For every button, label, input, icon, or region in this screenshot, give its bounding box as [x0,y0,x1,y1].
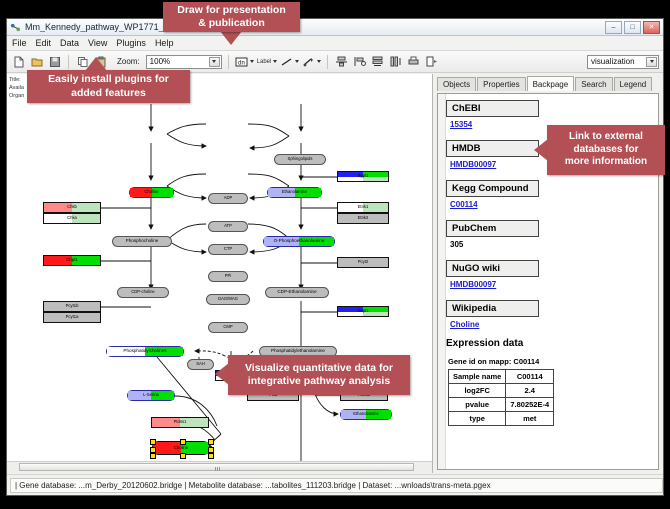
menu-plugins[interactable]: Plugins [116,38,146,48]
menu-edit[interactable]: Edit [36,38,52,48]
arrow-dropdown[interactable] [302,56,321,68]
node-label: Choline [144,190,158,194]
node-label: SAH [196,362,205,366]
toolbar-separator-3 [327,55,328,69]
pathway-canvas[interactable]: Title: Availa Organ [7,74,432,473]
node-ethanolamine-right[interactable]: Ethanolamine [340,409,392,420]
node-label: CDP-Ethanolamine [277,290,316,295]
node-choline-selected[interactable]: Choline [152,441,210,455]
node-label: Phosphatidylcholines [123,349,166,354]
kegg-link[interactable]: C00114 [450,200,656,209]
node-pcyt2[interactable]: Pcyt2 [337,257,389,268]
node-label: CDP-choline [131,290,155,294]
node-label: Sphingolipids [288,157,313,161]
kegg-header: Kegg Compound [446,180,539,197]
selection-handle[interactable] [208,453,214,459]
visualization-value: visualization [591,57,635,66]
callout-draw-text: Draw for presentation & publication [177,4,286,30]
hmdb-header: HMDB [446,140,539,157]
node-label: CTP [224,247,232,251]
statusbar-text: | Gene database: ...m_Derby_20120602.bri… [10,478,663,493]
table-cell: type [449,412,506,426]
new-icon[interactable] [11,54,26,69]
selection-handle[interactable] [208,439,214,445]
line-dropdown[interactable] [280,56,299,68]
pubchem-value: 305 [450,240,656,249]
selection-handle[interactable] [180,439,186,445]
node-cept1[interactable]: Cept1 [337,306,389,317]
node-label: Ethanolamine [282,190,308,194]
node-label: Phosphocholine [126,239,159,244]
node-phosphatidylcholines[interactable]: Phosphatidylcholines [106,346,184,357]
node-label: CMP [223,325,232,329]
callout-databases-arrow-icon [534,139,548,161]
window-buttons: – □ ✕ [605,21,660,34]
close-button[interactable]: ✕ [643,21,660,34]
backpage-scrollbar[interactable] [438,94,446,469]
selection-handle[interactable] [150,439,156,445]
distribute-icon[interactable] [388,54,403,69]
open-icon[interactable] [29,54,44,69]
expression-table: Sample nameC00114log2FC2.4pvalue7.80252E… [448,369,554,426]
tab-legend[interactable]: Legend [614,77,653,91]
toolbar-separator [68,55,69,69]
node-chka[interactable]: Chka [43,213,101,224]
node-chkb[interactable]: Chkb [43,202,101,213]
menu-file[interactable]: File [12,38,27,48]
canvas-hscroll-thumb[interactable] [19,463,414,471]
window-titlebar: Mm_Kennedy_pathway_WP1771_45176.gpml – □… [7,19,663,36]
node-label: Pcyt2 [358,260,368,264]
zoom-label: Zoom: [117,57,140,66]
node-label: ADP [224,196,233,200]
node-pcyt1b[interactable]: Pcyt1b [43,301,101,312]
table-cell: 7.80252E-4 [506,398,554,412]
node-cdp-choline[interactable]: CDP-choline [117,287,169,298]
wikipedia-header: Wikipedia [446,300,539,317]
callout-plugins-text: Easily install plugins for added feature… [48,73,169,99]
node-label: Chkb [67,205,77,209]
node-sgpl1[interactable]: Sgpl1 [337,171,389,182]
selection-handle[interactable] [150,453,156,459]
node-phosphocholine[interactable]: Phosphocholine [112,236,172,247]
expression-data-header: Expression data [446,338,656,349]
node-atp[interactable]: ATP [208,221,248,232]
node-etnk2[interactable]: Etnk2 [337,213,389,224]
node-choline-top[interactable]: Choline [129,187,174,198]
minimize-button[interactable]: – [605,21,622,34]
node-ethanolamine-top[interactable]: Ethanolamine [267,187,322,198]
toolbar-separator-2 [228,55,229,69]
zoom-combo[interactable]: 100% [146,55,222,69]
node-label: O-Phosphoethanolamine [274,239,325,244]
table-row: typemet [449,412,554,426]
node-label: Ethanolamine [353,412,379,416]
node-label: Pcyt1b [66,304,79,308]
node-label: Choline [174,446,188,450]
callout-visualize: Visualize quantitative data for integrat… [228,355,410,395]
callout-databases: Link to external databases for more info… [547,125,665,175]
align-left-icon[interactable] [352,54,367,69]
node-sphingolipids[interactable]: Sphingolipids [274,154,326,165]
node-dag-mag[interactable]: DAG/MAG [206,294,250,305]
callout-visualize-text: Visualize quantitative data for integrat… [245,362,393,388]
pathvisio-icon [10,22,21,33]
table-row: pvalue7.80252E-4 [449,398,554,412]
print-icon[interactable] [406,54,421,69]
zoom-value: 100% [150,57,170,66]
tab-objects[interactable]: Objects [437,77,476,91]
node-label: Chka [67,216,77,220]
chebi-header: ChEBI [446,100,539,117]
page-icon[interactable] [424,54,439,69]
canvas-hscrollbar[interactable] [7,461,432,473]
node-l-serine-left[interactable]: L-Serine [127,390,175,401]
selection-handle[interactable] [180,453,186,459]
table-row: log2FC2.4 [449,384,554,398]
side-panel-tabs: Objects Properties Backpage Search Legen… [437,76,663,91]
label-dropdown[interactable]: Label [257,59,278,65]
menu-view[interactable]: View [88,38,107,48]
wikipedia-link[interactable]: Choline [450,320,656,329]
node-ctp[interactable]: CTP [208,244,248,255]
node-ptdss1[interactable]: Ptdss1 [151,417,209,428]
table-cell: C00114 [506,370,554,384]
scroll-grip-icon [215,467,220,471]
table-cell: log2FC [449,384,506,398]
menubar: File Edit Data View Plugins Help [7,36,663,51]
node-label: DAG/MAG [218,297,238,301]
menu-help[interactable]: Help [155,38,174,48]
table-cell: pvalue [449,398,506,412]
node-label: ATP [224,224,232,228]
callout-draw-arrow-icon [220,31,242,45]
node-label: Phosphatidylethanolamine [271,349,325,354]
table-row: Sample nameC00114 [449,370,554,384]
node-adp[interactable]: ADP [208,193,248,204]
align-stack-icon[interactable] [370,54,385,69]
pubchem-header: PubChem [446,220,539,237]
callout-databases-text: Link to external databases for more info… [565,131,647,169]
nugo-link[interactable]: HMDB00097 [450,280,656,289]
label-dropdown-text: Label [257,59,272,65]
node-ppi[interactable]: PPi [208,271,248,282]
align-center-icon[interactable] [334,54,349,69]
node-label: Cept1 [357,309,368,313]
callout-visualize-arrow-icon [215,363,229,385]
table-cell: Sample name [449,370,506,384]
tab-backpage[interactable]: Backpage [527,76,575,91]
node-cdp-ethanolamine[interactable]: CDP-Ethanolamine [265,287,329,298]
tab-properties[interactable]: Properties [477,77,525,91]
callout-plugins-arrow-icon [85,57,107,71]
nugo-header: NuGO wiki [446,260,539,277]
callout-plugins: Easily install plugins for added feature… [27,70,190,103]
chevron-down-icon-2[interactable] [646,57,657,67]
node-label: L-Serine [143,393,159,397]
node-label: Sgpl1 [358,174,369,178]
screenshot-root: Mm_Kennedy_pathway_WP1771_45176.gpml – □… [0,0,670,509]
table-cell: met [506,412,554,426]
visualization-combo[interactable]: visualization [587,55,659,69]
node-sah[interactable]: SAH [187,359,214,370]
gene-id-line: Gene id on mapp: C00114 [448,357,656,366]
node-label: Chpt1 [66,258,77,262]
save-icon[interactable] [47,54,62,69]
chevron-down-icon[interactable] [209,57,220,67]
pathway-canvas-wrapper[interactable]: Title: Availa Organ [7,74,433,473]
node-label: Etnk1 [358,205,369,209]
datanode-dropdown[interactable]: dn [235,56,254,68]
node-chpt1[interactable]: Chpt1 [43,255,101,266]
node-pcyt1a[interactable]: Pcyt1a [43,312,101,323]
menu-data[interactable]: Data [60,38,79,48]
svg-text:dn: dn [238,60,245,66]
node-label: PPi [225,274,232,278]
maximize-button[interactable]: □ [624,21,641,34]
table-cell: 2.4 [506,384,554,398]
node-cmp[interactable]: CMP [208,322,248,333]
node-o-phosphoethanolamine[interactable]: O-Phosphoethanolamine [263,236,335,247]
node-label: Ptdss1 [174,420,187,424]
statusbar: | Gene database: ...m_Derby_20120602.bri… [7,474,663,495]
node-etnk1[interactable]: Etnk1 [337,202,389,213]
node-label: Etnk2 [358,216,369,220]
node-label: Pcyt1a [66,315,79,319]
tab-search[interactable]: Search [575,77,612,91]
callout-draw: Draw for presentation & publication [163,2,300,32]
